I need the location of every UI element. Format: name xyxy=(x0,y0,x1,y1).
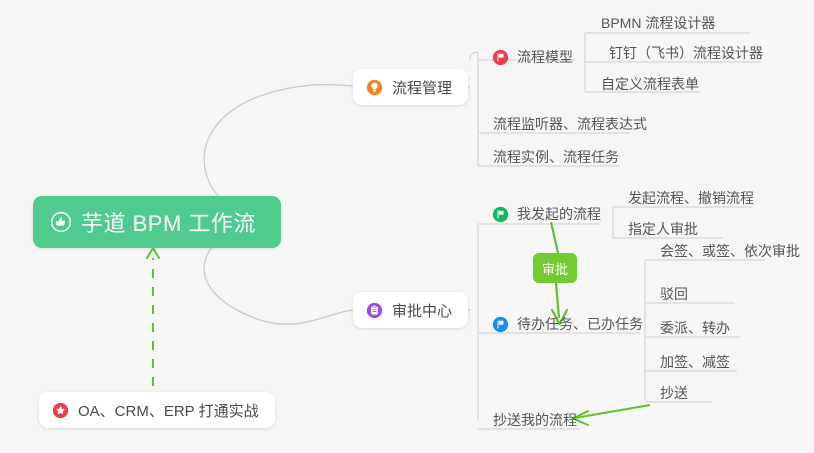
node-flow-model[interactable]: 流程模型 xyxy=(488,43,583,71)
node-cc[interactable]: 抄送 xyxy=(656,379,698,407)
footnote-oa-crm-erp-label: OA、CRM、ERP 打通实战 xyxy=(78,400,259,421)
flag-circle-icon xyxy=(492,49,509,66)
node-add-remove-sign[interactable]: 加签、减签 xyxy=(656,348,740,376)
node-countersign-orsign-sequential[interactable]: 会签、或签、依次审批 xyxy=(656,237,810,265)
lightbulb-icon xyxy=(366,79,383,96)
node-todo-done-tasks-label: 待办任务、已办任务 xyxy=(517,314,643,334)
node-start-cancel-flow-label: 发起流程、撤销流程 xyxy=(628,188,754,208)
node-flow-instance-task[interactable]: 流程实例、流程任务 xyxy=(489,143,629,171)
thumbs-up-circle-icon xyxy=(50,211,72,233)
node-countersign-orsign-sequential-label: 会签、或签、依次审批 xyxy=(660,241,800,261)
node-cc-to-me-flows[interactable]: 抄送我的流程 xyxy=(489,406,587,434)
branch-approval-center-label: 审批中心 xyxy=(392,300,452,321)
node-dingtalk-feishu-designer-label: 钉钉（飞书）流程设计器 xyxy=(609,43,763,63)
node-my-started-flows-label: 我发起的流程 xyxy=(517,204,601,224)
node-reject[interactable]: 驳回 xyxy=(656,280,698,308)
root-node[interactable]: 芋道 BPM 工作流 xyxy=(33,196,281,248)
clipboard-icon xyxy=(366,302,383,319)
node-dingtalk-feishu-designer[interactable]: 钉钉（飞书）流程设计器 xyxy=(605,39,773,67)
node-start-cancel-flow[interactable]: 发起流程、撤销流程 xyxy=(624,184,764,212)
approval-callout[interactable]: 审批 xyxy=(533,253,577,283)
wire-fm-bracket-top-round xyxy=(470,52,478,60)
node-cc-to-me-flows-label: 抄送我的流程 xyxy=(493,410,577,430)
node-flow-listener-expression-label: 流程监听器、流程表达式 xyxy=(493,114,647,134)
node-flow-instance-task-label: 流程实例、流程任务 xyxy=(493,147,619,167)
node-bpmn-designer[interactable]: BPMN 流程设计器 xyxy=(597,9,725,37)
node-my-started-flows[interactable]: 我发起的流程 xyxy=(488,200,611,228)
branch-flow-management-label: 流程管理 xyxy=(392,77,452,98)
node-cc-label: 抄送 xyxy=(660,383,688,403)
node-delegate-transfer[interactable]: 委派、转办 xyxy=(656,314,740,342)
branch-approval-center[interactable]: 审批中心 xyxy=(353,292,468,328)
node-flow-model-label: 流程模型 xyxy=(517,47,573,67)
branch-flow-management[interactable]: 流程管理 xyxy=(353,69,468,105)
node-add-remove-sign-label: 加签、减签 xyxy=(660,352,730,372)
footnote-oa-crm-erp[interactable]: OA、CRM、ERP 打通实战 xyxy=(39,392,275,428)
root-label: 芋道 BPM 工作流 xyxy=(81,206,256,238)
node-delegate-transfer-label: 委派、转办 xyxy=(660,318,730,338)
node-custom-flow-form[interactable]: 自定义流程表单 xyxy=(597,70,709,98)
node-bpmn-designer-label: BPMN 流程设计器 xyxy=(601,13,715,33)
approval-callout-label: 审批 xyxy=(542,259,568,278)
node-flow-listener-expression[interactable]: 流程监听器、流程表达式 xyxy=(489,110,657,138)
node-reject-label: 驳回 xyxy=(660,284,688,304)
flag-circle-icon xyxy=(492,316,509,333)
star-circle-icon xyxy=(52,402,69,419)
flag-circle-icon xyxy=(492,206,509,223)
node-custom-flow-form-label: 自定义流程表单 xyxy=(601,74,699,94)
node-todo-done-tasks[interactable]: 待办任务、已办任务 xyxy=(488,310,653,338)
node-assignee-approval-label: 指定人审批 xyxy=(628,219,698,239)
dashed-green-arrow-up xyxy=(147,248,159,386)
mindmap-canvas: 芋道 BPM 工作流 流程管理 流程模型 BPMN 流程设计器 钉钉 xyxy=(0,0,814,453)
